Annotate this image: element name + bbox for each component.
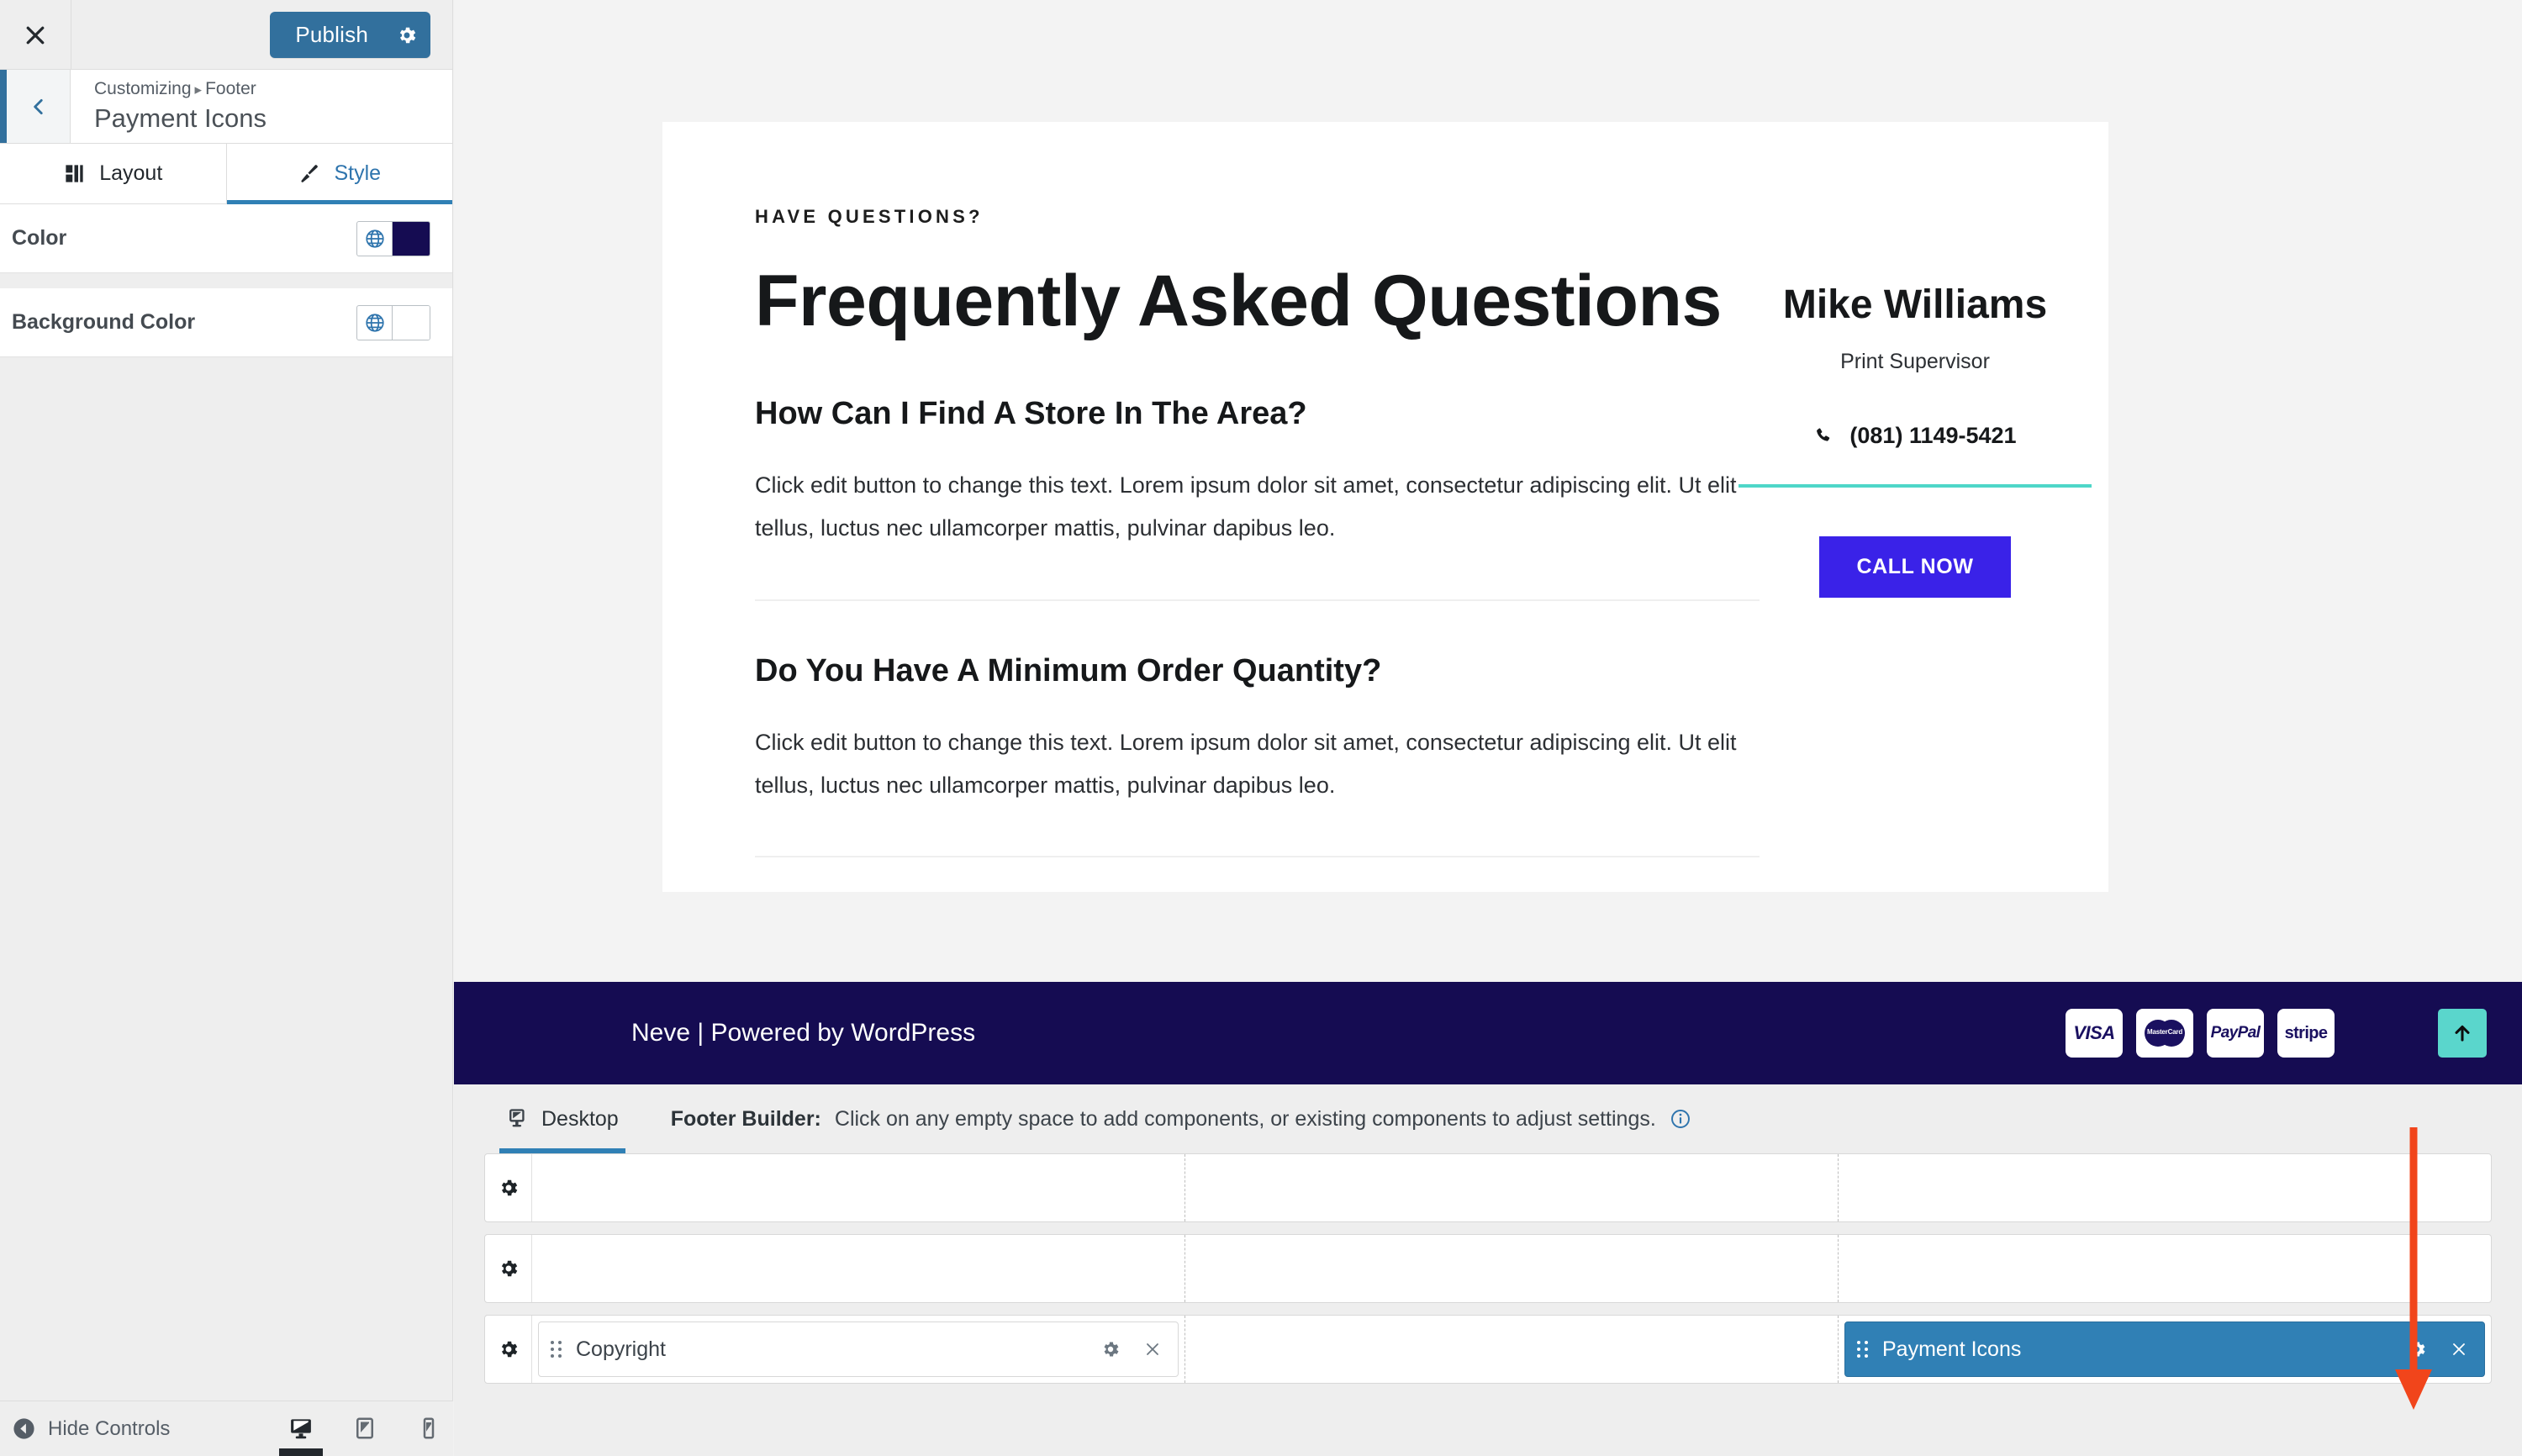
builder-row[interactable]: Copyright: [484, 1315, 2492, 1384]
faq-item: Do You Have A Minimum Order Quantity? Cl…: [755, 653, 2050, 808]
builder-slot[interactable]: Copyright: [532, 1316, 1184, 1383]
tab-style[interactable]: Style: [227, 144, 453, 203]
device-button-tablet[interactable]: [333, 1401, 397, 1456]
gear-icon: [498, 1258, 520, 1279]
publish-button[interactable]: Publish: [270, 12, 383, 58]
publish-group: Publish: [270, 12, 430, 58]
gear-icon: [498, 1177, 520, 1199]
builder-row[interactable]: [484, 1234, 2492, 1303]
builder-device-label: Desktop: [541, 1107, 619, 1132]
hide-controls-button[interactable]: Hide Controls: [12, 1416, 170, 1441]
device-button-desktop[interactable]: [269, 1401, 333, 1456]
site-footer-bar: Neve | Powered by WordPress VISA MasterC…: [454, 982, 2522, 1084]
drag-handle-icon[interactable]: [1857, 1338, 1872, 1360]
info-icon[interactable]: [1670, 1108, 1691, 1130]
payment-icon-paypal[interactable]: PayPal: [2207, 1009, 2264, 1058]
row-settings-button[interactable]: [485, 1316, 532, 1383]
customizer-header: Publish: [0, 0, 452, 70]
device-button-mobile[interactable]: [397, 1401, 461, 1456]
gear-icon[interactable]: [2407, 1339, 2427, 1359]
page-title: Payment Icons: [94, 103, 452, 135]
control-label-color: Color: [12, 226, 66, 251]
close-customizer-button[interactable]: [0, 0, 71, 70]
builder-slot[interactable]: [1184, 1154, 1838, 1221]
component-label: Payment Icons: [1882, 1337, 2407, 1362]
tab-layout[interactable]: Layout: [0, 144, 227, 203]
footer-payment-icons: VISA MasterCard PayPal stripe: [2066, 1009, 2335, 1058]
faq-divider: [755, 856, 1760, 857]
breadcrumb-section: Footer: [205, 79, 256, 98]
component-payment-icons[interactable]: Payment Icons: [1844, 1321, 2485, 1377]
component-copyright[interactable]: Copyright: [538, 1321, 1179, 1377]
builder-slot[interactable]: [1184, 1316, 1838, 1383]
publish-settings-button[interactable]: [383, 12, 430, 58]
global-color-button[interactable]: [357, 222, 393, 256]
tab-style-label: Style: [334, 161, 381, 186]
drag-handle-icon[interactable]: [551, 1338, 566, 1360]
footer-builder-panel: Desktop Footer Builder: Click on any emp…: [454, 1084, 2522, 1456]
breadcrumb-separator: ▸: [195, 82, 203, 98]
row-slots: [532, 1235, 2491, 1302]
builder-slot[interactable]: [532, 1154, 1184, 1221]
payment-icon-visa[interactable]: VISA: [2066, 1009, 2123, 1058]
builder-slot[interactable]: [1838, 1154, 2491, 1221]
phone-icon: [1813, 425, 1834, 446]
customizer-sidebar: Publish Customizing▸Footer Payment Icons: [0, 0, 453, 1456]
component-actions: [2407, 1339, 2469, 1359]
footer-builder-toolbar: Desktop Footer Builder: Click on any emp…: [454, 1084, 2522, 1153]
site-preview: HAVE QUESTIONS? Frequently Asked Questio…: [454, 0, 2522, 1456]
tab-layout-label: Layout: [99, 161, 162, 186]
color-picker-background-color[interactable]: [356, 305, 430, 340]
builder-slot[interactable]: [532, 1235, 1184, 1302]
control-row-background-color: Background Color: [0, 288, 452, 357]
gear-icon: [498, 1338, 520, 1360]
panel-title-row: Customizing▸Footer Payment Icons: [0, 70, 452, 144]
desktop-icon: [288, 1416, 314, 1441]
faq-answer: Click edit button to change this text. L…: [755, 721, 1747, 808]
faq-divider: [755, 599, 1760, 601]
panel-titles: Customizing▸Footer Payment Icons: [71, 70, 452, 143]
close-icon[interactable]: [2449, 1339, 2469, 1359]
payment-icon-mastercard[interactable]: MasterCard: [2136, 1009, 2193, 1058]
builder-hint: Footer Builder: Click on any empty space…: [671, 1107, 1691, 1132]
breadcrumb-prefix: Customizing: [94, 79, 192, 98]
row-slots: Copyright: [532, 1316, 2491, 1383]
faq-question: Do You Have A Minimum Order Quantity?: [755, 653, 2050, 689]
call-now-button[interactable]: CALL NOW: [1819, 536, 2010, 598]
builder-slot[interactable]: [1184, 1235, 1838, 1302]
builder-row[interactable]: [484, 1153, 2492, 1222]
gear-icon: [396, 24, 418, 46]
builder-slot[interactable]: [1838, 1235, 2491, 1302]
contact-name: Mike Williams: [1738, 282, 2092, 328]
builder-title: Footer Builder:: [671, 1107, 821, 1132]
stripe-icon: stripe: [2285, 1024, 2328, 1043]
color-picker-color[interactable]: [356, 221, 430, 256]
component-label: Copyright: [576, 1337, 1100, 1362]
chevron-left-icon: [28, 96, 50, 118]
component-actions: [1100, 1339, 1163, 1359]
builder-hint-text: Click on any empty space to add componen…: [835, 1107, 1656, 1132]
contact-role: Print Supervisor: [1738, 350, 2092, 374]
scroll-to-top-button[interactable]: [2438, 1009, 2487, 1058]
visa-icon: VISA: [2073, 1022, 2114, 1044]
row-settings-button[interactable]: [485, 1235, 532, 1302]
sidebar-footer: Hide Controls: [0, 1401, 453, 1456]
mobile-icon: [416, 1416, 441, 1441]
footer-copyright-text: Neve | Powered by WordPress: [631, 1019, 975, 1047]
globe-icon: [364, 228, 386, 250]
panel-tabs: Layout Style: [0, 144, 452, 204]
globe-icon: [364, 312, 386, 334]
payment-icon-stripe[interactable]: stripe: [2277, 1009, 2335, 1058]
tablet-icon: [352, 1416, 377, 1441]
arrow-up-icon: [2451, 1021, 2474, 1045]
control-row-color: Color: [0, 204, 452, 273]
background-color-swatch[interactable]: [393, 306, 430, 340]
global-background-color-button[interactable]: [357, 306, 393, 340]
faq-answer: Click edit button to change this text. L…: [755, 464, 1747, 551]
device-preview-buttons: [269, 1401, 461, 1456]
contact-phone-number: (081) 1149-5421: [1849, 423, 2016, 449]
row-slots: [532, 1154, 2491, 1221]
contact-card: Mike Williams Print Supervisor (081) 114…: [1738, 282, 2092, 598]
desktop-icon: [506, 1107, 530, 1131]
gear-icon[interactable]: [1100, 1339, 1121, 1359]
breadcrumb: Customizing▸Footer: [94, 77, 452, 101]
builder-device-tab-desktop[interactable]: Desktop: [484, 1084, 641, 1153]
hide-controls-label: Hide Controls: [48, 1417, 170, 1441]
faq-section-card: HAVE QUESTIONS? Frequently Asked Questio…: [662, 122, 2108, 892]
panel-back-button[interactable]: [0, 70, 71, 143]
brush-icon: [298, 162, 320, 185]
close-icon[interactable]: [1142, 1339, 1163, 1359]
mastercard-label: MasterCard: [2145, 1028, 2185, 1036]
control-label-background-color: Background Color: [12, 310, 195, 335]
layout-icon: [63, 162, 86, 185]
arrow-circle-left-icon: [12, 1416, 36, 1441]
mastercard-icon: MasterCard: [2145, 1020, 2185, 1047]
builder-slot[interactable]: Payment Icons: [1838, 1316, 2491, 1383]
close-icon: [23, 23, 48, 48]
contact-phone[interactable]: (081) 1149-5421: [1738, 423, 2092, 449]
paypal-icon: PayPal: [2211, 1024, 2261, 1042]
contact-divider: [1738, 484, 2092, 488]
row-settings-button[interactable]: [485, 1154, 532, 1221]
color-swatch[interactable]: [393, 222, 430, 256]
faq-eyebrow: HAVE QUESTIONS?: [755, 206, 2050, 228]
